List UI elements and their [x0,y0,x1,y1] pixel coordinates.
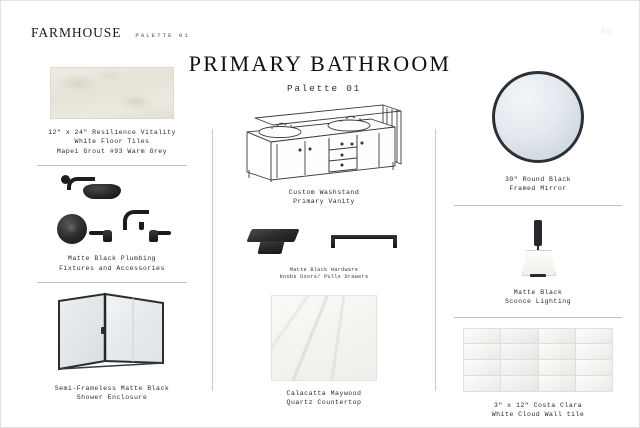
section-divider [454,317,622,318]
page-number: 89 [600,27,613,37]
caption-line: Knobs Doors/ Pulls Drawers [280,274,369,281]
cabinet-knob-stem-icon [257,241,284,254]
custom-vanity-image [233,102,415,182]
cabinet-hardware-image [239,221,409,265]
caption-line: Quartz Countertop [287,398,362,407]
column-divider-right [435,129,436,391]
palette-subtitle: Palette 01 [287,83,361,94]
faucet-spout-icon [123,210,149,230]
left-column: 12" x 24" Resilience Vitality White Floo… [17,67,207,403]
caption-line: 12" x 24" Resilience Vitality [48,128,176,137]
caption-line: Shower Enclosure [55,393,170,402]
caption-line: Fixtures and Accessories [59,264,165,273]
faucet-spout-tip-icon [139,222,144,230]
cabinet-knob-icon [246,229,299,242]
brand-header: FARMHOUSE PALETTE 01 [31,25,190,41]
caption-line: Sconce Lighting [505,297,571,306]
hardware-caption: Matte Black Hardware Knobs Doors/ Pulls … [280,267,369,282]
middle-column: Palette 01 [222,67,426,407]
cabinet-pull-bar-icon [331,235,397,239]
plumbing-caption: Matte Black Plumbing Fixtures and Access… [59,254,165,273]
brand-name: FARMHOUSE [31,25,121,41]
section-divider [37,282,187,283]
rain-shower-head-icon [83,184,121,199]
cabinet-pull-left-foot-icon [331,238,335,248]
caption-line: Matte Black Hardware [280,267,369,274]
section-divider [37,165,187,166]
round-mirror-image [492,71,584,163]
caption-line: 3" x 12" Costa Clara [492,401,585,410]
caption-line: Matte Black Plumbing [59,254,165,263]
caption-line: Framed Mirror [505,184,571,193]
mirror-caption: 30" Round Black Framed Mirror [505,175,571,194]
caption-line: White Floor Tiles [48,137,176,146]
shower-enclosure-image [53,291,171,377]
faucet-right-base-icon [149,230,158,242]
brand-palette-tag: PALETTE 01 [135,32,190,39]
caption-line: Matte Black [505,288,571,297]
wall-tile-swatch [463,328,613,392]
shower-valve-trim-icon [57,214,87,244]
caption-line: Calacatta Maywood [287,389,362,398]
faucet-left-base-icon [103,230,112,242]
wall-tile-caption: 3" x 12" Costa Clara White Cloud Wall ti… [492,401,585,420]
plumbing-fixtures-image [37,174,187,248]
caption-line: White Cloud Wall tile [492,410,585,419]
caption-line: Mapei Grout #93 Warm Grey [48,147,176,156]
sconce-caption: Matte Black Sconce Lighting [505,288,571,307]
floor-tile-caption: 12" x 24" Resilience Vitality White Floo… [48,128,176,156]
sconce-shade-icon [522,250,556,276]
section-divider [454,205,622,206]
caption-line: Custom Washstand [289,188,360,197]
quartz-caption: Calacatta Maywood Quartz Countertop [287,389,362,408]
mood-board-page: FARMHOUSE PALETTE 01 89 PRIMARY BATHROOM… [0,0,640,428]
column-divider-left [212,129,213,391]
caption-line: 30" Round Black [505,175,571,184]
caption-line: Primary Vanity [289,197,360,206]
sconce-lighting-image [508,212,568,286]
right-column: 30" Round Black Framed Mirror Matte Blac… [445,67,631,419]
cabinet-pull-right-foot-icon [393,238,397,248]
floor-tile-swatch [50,67,174,119]
vanity-caption: Custom Washstand Primary Vanity [289,188,360,207]
caption-line: Semi-Frameless Matte Black [55,384,170,393]
quartz-countertop-swatch [271,295,377,381]
sconce-base-icon [530,274,546,277]
shower-enclosure-caption: Semi-Frameless Matte Black Shower Enclos… [55,384,170,403]
